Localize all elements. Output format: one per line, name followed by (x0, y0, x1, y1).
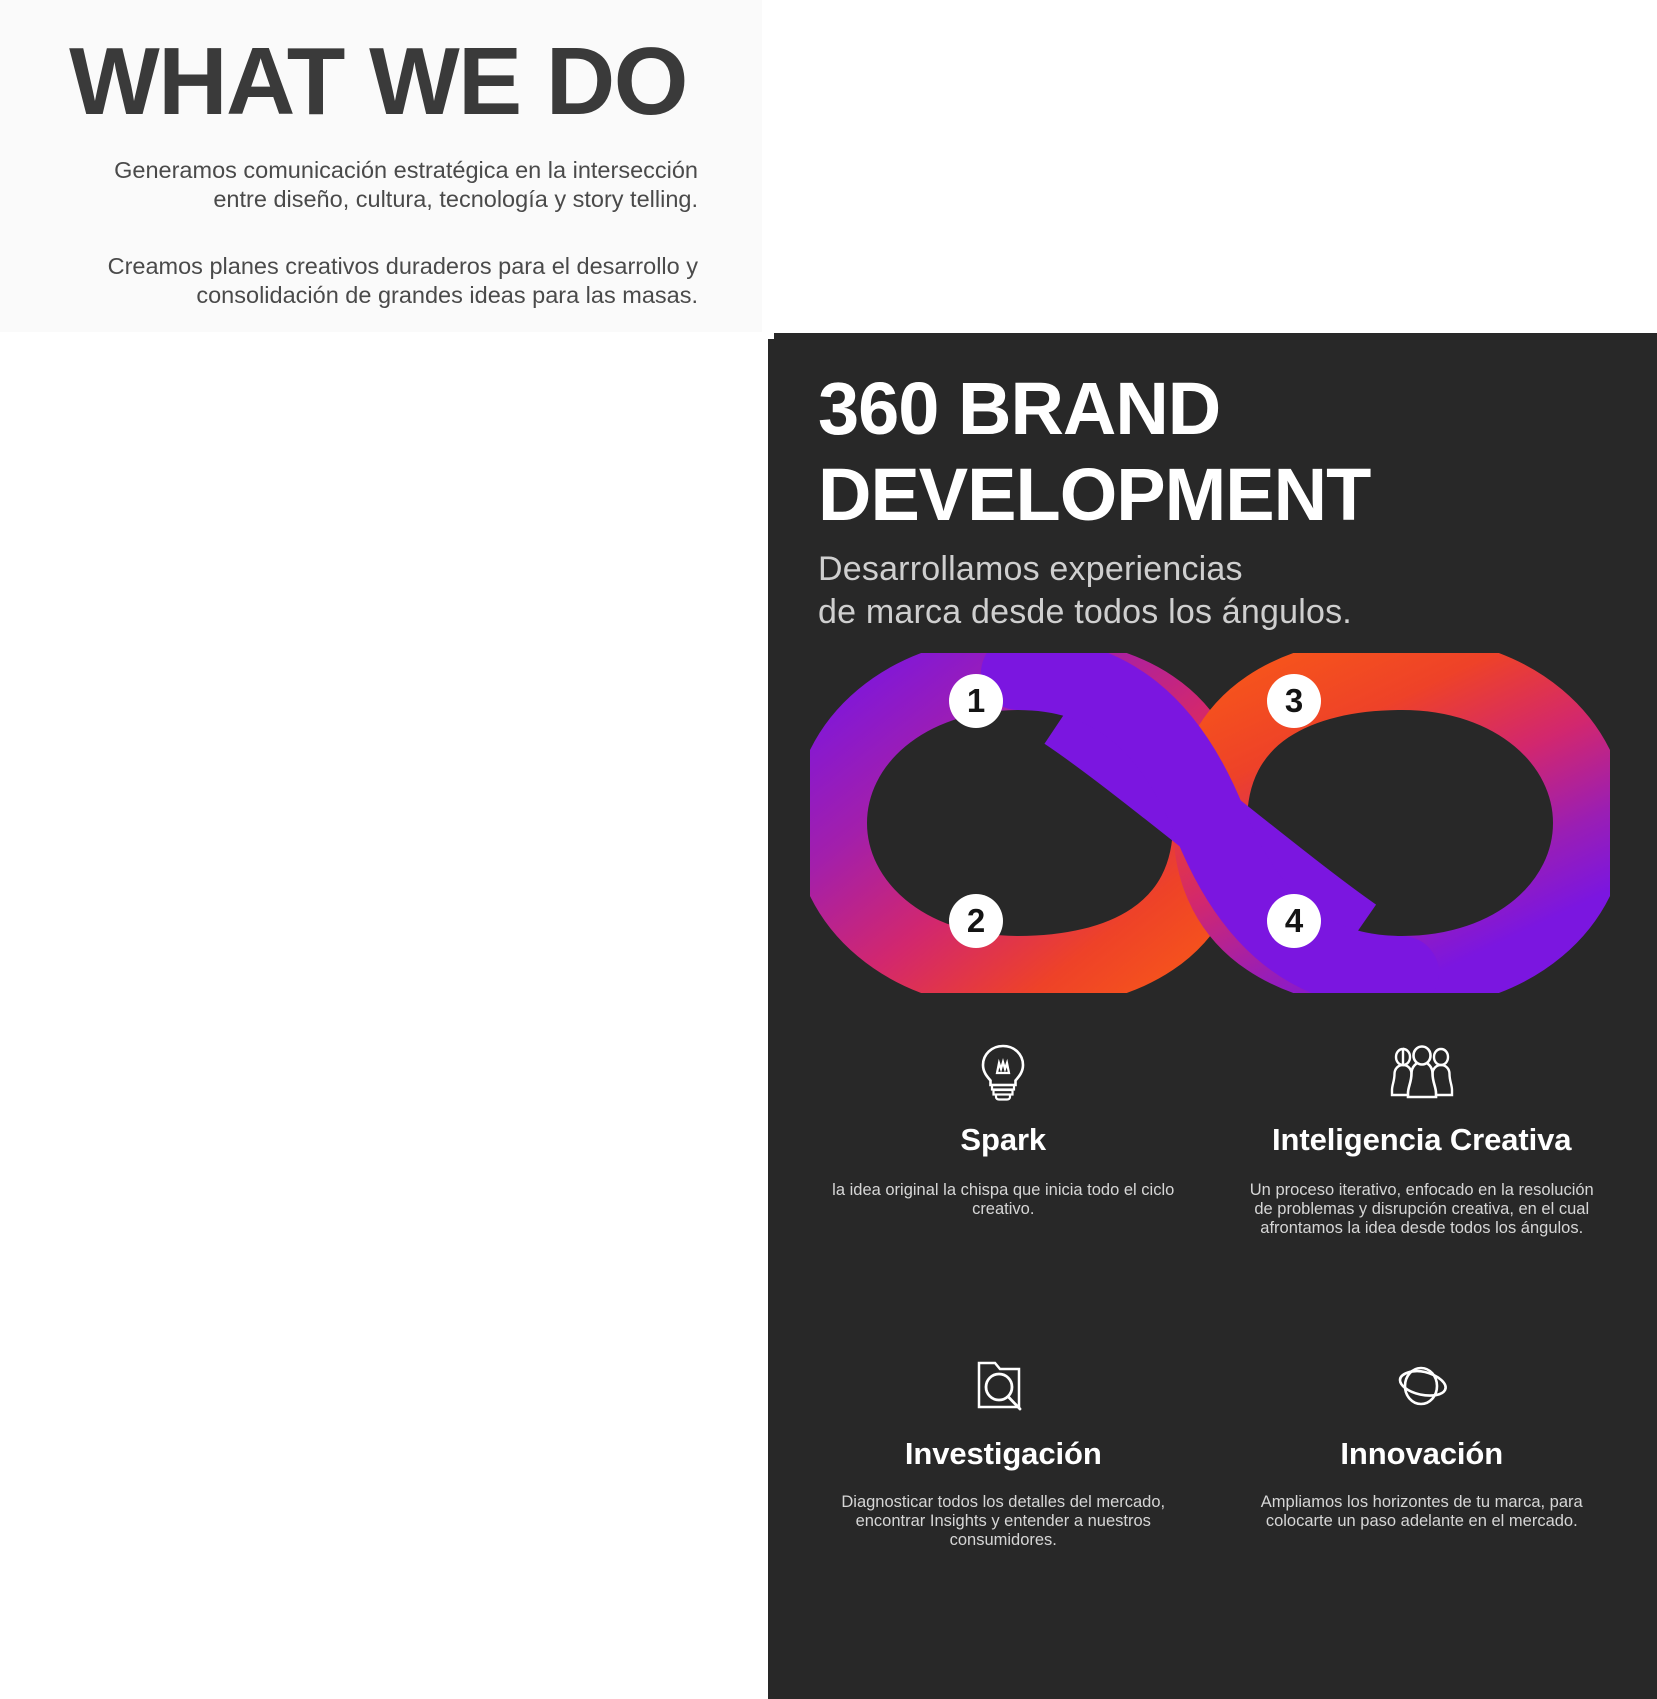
slide-canvas: WHAT WE DO Generamos comunicación estrat… (0, 0, 1657, 1699)
page-title: WHAT WE DO (56, 30, 700, 134)
service-desc-investigacion: Diagnosticar todos los detalles del merc… (820, 1493, 1187, 1551)
service-title-spark: Spark (820, 1117, 1187, 1163)
brand-development-title: 360 BRAND DEVELOPMENT (818, 366, 1438, 538)
service-title-investigacion: Investigación (820, 1431, 1187, 1477)
lightbulb-icon (820, 1041, 1187, 1103)
service-cell-innovacion: Innovación Ampliamos los horizontes de t… (1213, 1351, 1632, 1551)
step-badge-4: 4 (1267, 894, 1321, 948)
service-cell-inteligencia-creativa: Inteligencia Creativa Un proceso iterati… (1213, 1041, 1632, 1351)
service-cell-investigacion: Investigación Diagnosticar todos los det… (794, 1351, 1213, 1551)
service-cell-spark: Spark la idea original la chispa que ini… (794, 1041, 1213, 1351)
service-title-innovacion: Innovación (1239, 1431, 1606, 1477)
infinity-loop-graphic (810, 653, 1610, 993)
service-desc-innovacion: Ampliamos los horizontes de tu marca, pa… (1239, 1493, 1606, 1532)
brand-development-panel: 360 BRAND DEVELOPMENT Desarrollamos expe… (768, 333, 1657, 1699)
service-cells-grid: Spark la idea original la chispa que ini… (768, 1013, 1657, 1551)
planet-orbit-icon (1239, 1355, 1606, 1417)
panel-corner-notch (768, 333, 774, 339)
service-desc-inteligencia-creativa: Un proceso iterativo, enfocado en la res… (1239, 1181, 1606, 1239)
brand-development-subtitle: Desarrollamos experiencias de marca desd… (818, 548, 1657, 635)
subtitle-line-2: de marca desde todos los ángulos. (818, 591, 1657, 635)
what-we-do-paragraph-1: Generamos comunicación estratégica en la… (62, 156, 700, 214)
folder-search-icon (820, 1355, 1187, 1417)
people-group-icon (1239, 1041, 1606, 1103)
what-we-do-paragraph-2: Creamos planes creativos duraderos para … (62, 252, 700, 310)
brand-development-header: 360 BRAND DEVELOPMENT Desarrollamos expe… (768, 333, 1657, 635)
step-badge-3: 3 (1267, 674, 1321, 728)
step-badge-2: 2 (949, 894, 1003, 948)
subtitle-line-1: Desarrollamos experiencias (818, 548, 1657, 592)
service-desc-spark: la idea original la chispa que inicia to… (820, 1181, 1187, 1220)
step-badge-1: 1 (949, 674, 1003, 728)
service-title-inteligencia-creativa: Inteligencia Creativa (1239, 1117, 1606, 1163)
what-we-do-panel: WHAT WE DO Generamos comunicación estrat… (0, 0, 762, 332)
infinity-loop-diagram: 1 3 2 4 (768, 653, 1657, 1013)
